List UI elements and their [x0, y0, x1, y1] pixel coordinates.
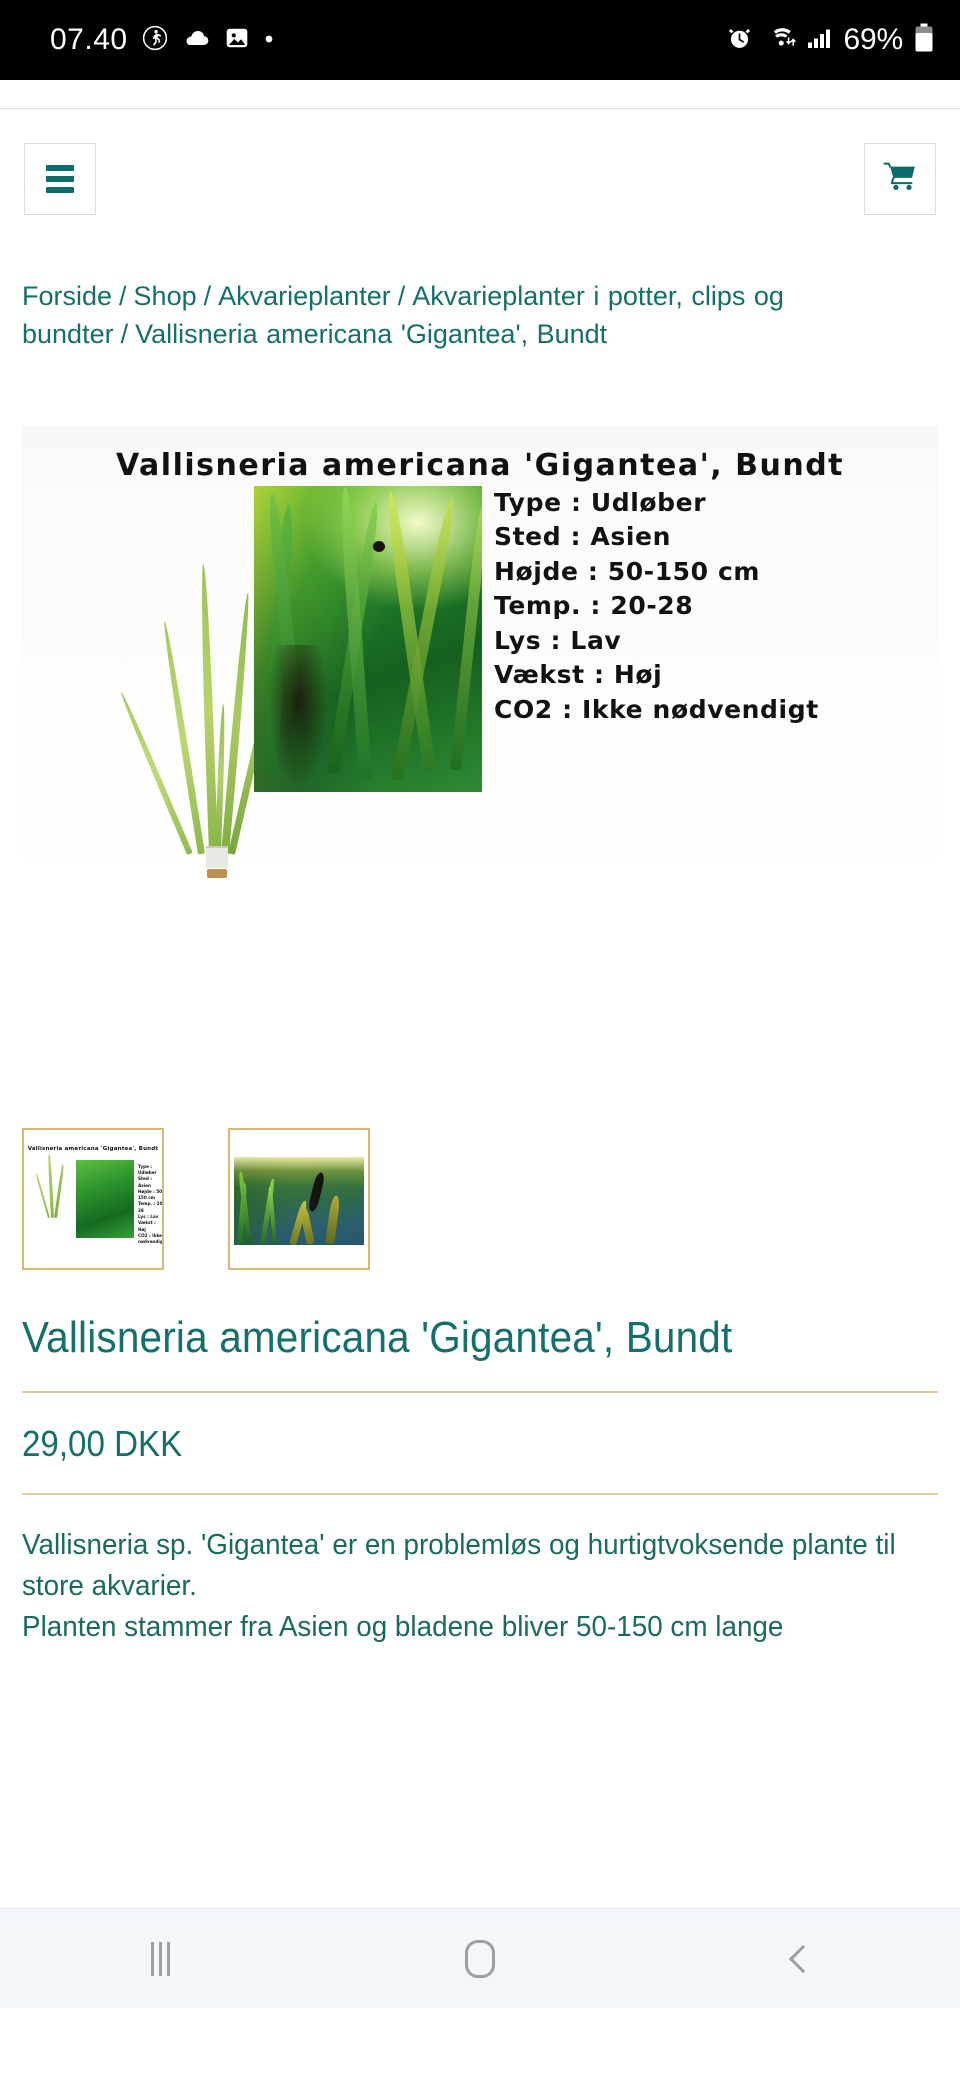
thumb-spec-6: CO2 : Ikke nødvendigt — [138, 1233, 164, 1246]
breadcrumb-item-akvarieplanter[interactable]: Akvarieplanter — [218, 281, 391, 311]
recents-icon — [151, 1942, 170, 1976]
alarm-clock-icon — [726, 24, 753, 56]
spec-line-co2: CO2 : Ikke nødvendigt — [494, 693, 819, 728]
walking-person-icon — [142, 25, 168, 56]
thumbnail-gallery: Vallisneria americana 'Gigantea', Bundt … — [22, 1128, 960, 1270]
wifi-icon — [764, 24, 796, 56]
site-header — [0, 109, 960, 215]
thumbnail-plant — [36, 1164, 70, 1236]
page-title: Vallisneria americana 'Gigantea', Bundt — [22, 1312, 865, 1363]
thumb-spec-2: Højde : 50-150 cm — [138, 1189, 164, 1202]
product-main-image[interactable]: Vallisneria americana 'Gigantea', Bundt — [22, 426, 938, 896]
status-bar-right: 69% — [726, 23, 934, 58]
cart-button[interactable] — [864, 143, 936, 215]
spec-line-sted: Sted : Asien — [494, 520, 819, 555]
plant-bundle-band — [207, 869, 227, 878]
price-divider — [22, 1493, 938, 1495]
battery-percent-label: 69% — [844, 23, 903, 57]
home-button[interactable] — [420, 1909, 540, 2009]
product-price: 29,00 DKK — [22, 1423, 865, 1465]
thumbnail-content: Vallisneria americana 'Gigantea', Bundt … — [24, 1130, 162, 1268]
product-image-area: Vallisneria americana 'Gigantea', Bundt — [0, 426, 960, 896]
thumbnail-aquarium-inset — [76, 1160, 134, 1238]
thumb-spec-1: Sted : Asien — [138, 1176, 164, 1189]
product-description: Vallisneria sp. 'Gigantea' er en problem… — [22, 1525, 901, 1649]
breadcrumb: Forside/Shop/Akvarieplanter/Akvarieplant… — [22, 277, 938, 354]
photo-icon — [224, 25, 250, 56]
status-bar: 07.40 69% — [0, 0, 960, 80]
thumbnail-product-infographic[interactable]: Vallisneria americana 'Gigantea', Bundt … — [22, 1128, 164, 1270]
thumbnail-specs: Type : Udløber Sted : Asien Højde : 50-1… — [138, 1164, 164, 1246]
title-divider — [22, 1391, 938, 1393]
breadcrumb-item-current: Vallisneria americana 'Gigantea', Bundt — [135, 319, 607, 349]
back-icon — [789, 1944, 817, 1972]
status-bar-clock: 07.40 — [50, 23, 128, 57]
breadcrumb-separator: / — [391, 281, 413, 311]
spec-line-vaekst: Vækst : Høj — [494, 658, 819, 693]
breadcrumb-separator: / — [197, 281, 219, 311]
back-button[interactable] — [740, 1909, 860, 2009]
spec-line-temp: Temp. : 20-28 — [494, 589, 819, 624]
hamburger-menu-icon — [46, 165, 74, 193]
aquarium-photo — [254, 486, 482, 792]
thumbnail-title: Vallisneria americana 'Gigantea', Bundt — [24, 1146, 162, 1152]
aquarium-shadow — [268, 645, 327, 786]
home-icon — [465, 1940, 495, 1978]
thumbnail-aquarium-photo[interactable] — [228, 1128, 370, 1270]
plant-bundle-tie — [206, 846, 228, 868]
status-bar-left: 07.40 — [50, 23, 274, 57]
breadcrumb-item-shop[interactable]: Shop — [134, 281, 197, 311]
thumbnail-tank-scene — [234, 1157, 364, 1245]
breadcrumb-separator: / — [112, 281, 134, 311]
dot-icon — [264, 31, 274, 49]
description-line-1: Vallisneria sp. 'Gigantea' er en problem… — [22, 1525, 901, 1607]
thumb-spec-0: Type : Udløber — [138, 1164, 164, 1177]
spec-line-lys: Lys : Lav — [494, 624, 819, 659]
description-line-2: Planten stammer fra Asien og bladene bli… — [22, 1607, 901, 1648]
breadcrumb-item-forside[interactable]: Forside — [22, 281, 112, 311]
shopping-cart-icon — [883, 162, 917, 197]
browser-page: Forside/Shop/Akvarieplanter/Akvarieplant… — [0, 108, 960, 2008]
hamburger-menu-button[interactable] — [24, 143, 96, 215]
signal-bars-icon — [807, 26, 833, 55]
recents-button[interactable] — [100, 1909, 220, 2009]
spec-line-hojde: Højde : 50-150 cm — [494, 555, 819, 590]
android-nav-bar — [0, 1908, 960, 2008]
thumb-spec-5: Vækst : Høj — [138, 1220, 164, 1233]
product-image-title: Vallisneria americana 'Gigantea', Bundt — [22, 448, 938, 483]
breadcrumb-separator: / — [114, 319, 136, 349]
battery-icon — [914, 23, 934, 58]
aquarium-snail — [373, 541, 385, 552]
product-spec-list: Type : Udløber Sted : Asien Højde : 50-1… — [494, 486, 819, 728]
spec-line-type: Type : Udløber — [494, 486, 819, 521]
thumbnail-eel — [307, 1172, 325, 1213]
cloud-icon — [182, 25, 210, 56]
thumb-spec-3: Temp. : 20-28 — [138, 1201, 164, 1214]
